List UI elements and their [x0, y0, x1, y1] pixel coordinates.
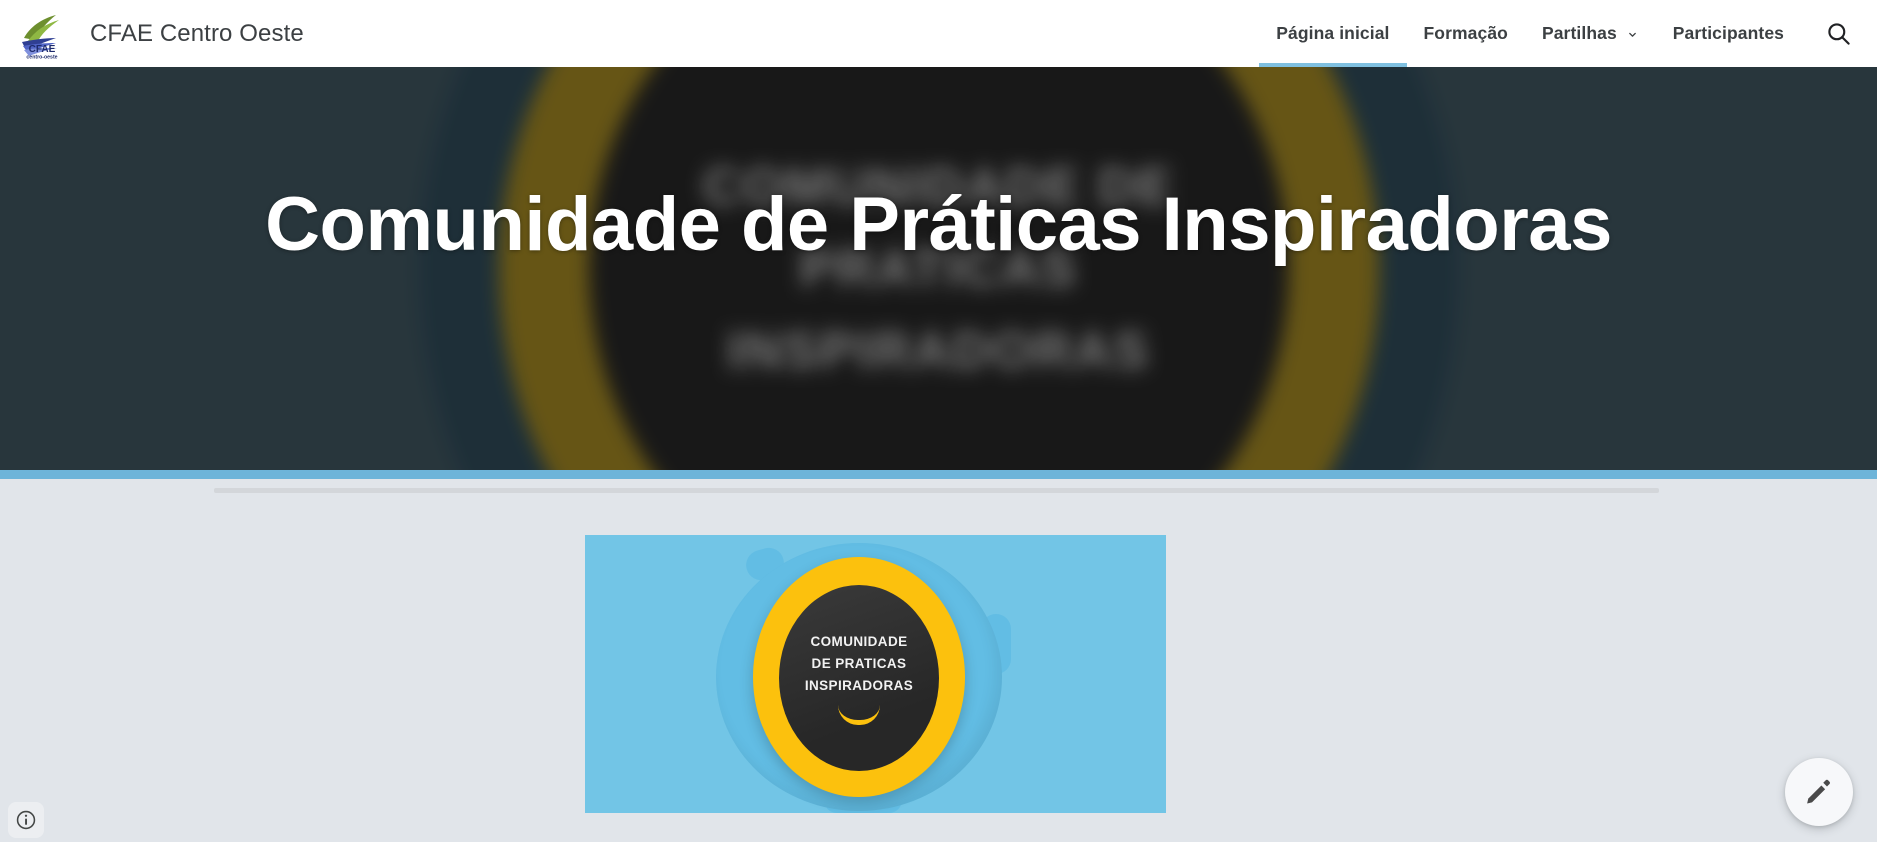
nav-item-label: Partilhas	[1542, 23, 1617, 44]
svg-text:CFAE: CFAE	[29, 44, 56, 55]
hero-banner: COMUNIDADE DE PRATICAS INSPIRADORAS Comu…	[0, 67, 1877, 470]
badge-image: COMUNIDADE DE PRATICAS INSPIRADORAS	[585, 535, 1166, 813]
nav-item-participantes[interactable]: Participantes	[1656, 0, 1801, 67]
section-divider	[214, 488, 1659, 493]
search-icon[interactable]	[1809, 0, 1867, 67]
badge-core: COMUNIDADE DE PRATICAS INSPIRADORAS	[779, 585, 939, 771]
svg-text:centro-oeste: centro-oeste	[26, 54, 57, 60]
nav-item-label: Formação	[1424, 23, 1508, 44]
info-icon[interactable]	[8, 802, 44, 838]
pencil-icon	[1804, 777, 1834, 807]
page-title: Comunidade de Práticas Inspiradoras	[0, 180, 1877, 270]
cfae-logo-icon: CFAE centro-oeste	[16, 8, 68, 60]
badge-ring: COMUNIDADE DE PRATICAS INSPIRADORAS	[753, 557, 965, 797]
main-nav: Página inicial Formação Partilhas Partic…	[1259, 0, 1877, 67]
smile-icon	[838, 705, 880, 725]
site-title: CFAE Centro Oeste	[90, 20, 304, 48]
hero-figure[interactable]: COMUNIDADE DE PRATICAS INSPIRADORAS	[585, 535, 1166, 813]
nav-item-partilhas[interactable]: Partilhas	[1525, 0, 1656, 67]
brand[interactable]: CFAE centro-oeste CFAE Centro Oeste	[16, 0, 304, 67]
accent-strip	[0, 470, 1877, 479]
site-header: CFAE centro-oeste CFAE Centro Oeste Pági…	[0, 0, 1877, 67]
chevron-down-icon	[1626, 28, 1639, 41]
nav-item-label: Página inicial	[1276, 23, 1389, 44]
nav-item-pagina-inicial[interactable]: Página inicial	[1259, 0, 1406, 67]
nav-item-formacao[interactable]: Formação	[1407, 0, 1525, 67]
edit-button[interactable]	[1785, 758, 1853, 826]
main-content: COMUNIDADE DE PRATICAS INSPIRADORAS	[0, 479, 1877, 842]
badge-core-text: COMUNIDADE DE PRATICAS INSPIRADORAS	[805, 631, 913, 697]
nav-item-label: Participantes	[1673, 23, 1784, 44]
